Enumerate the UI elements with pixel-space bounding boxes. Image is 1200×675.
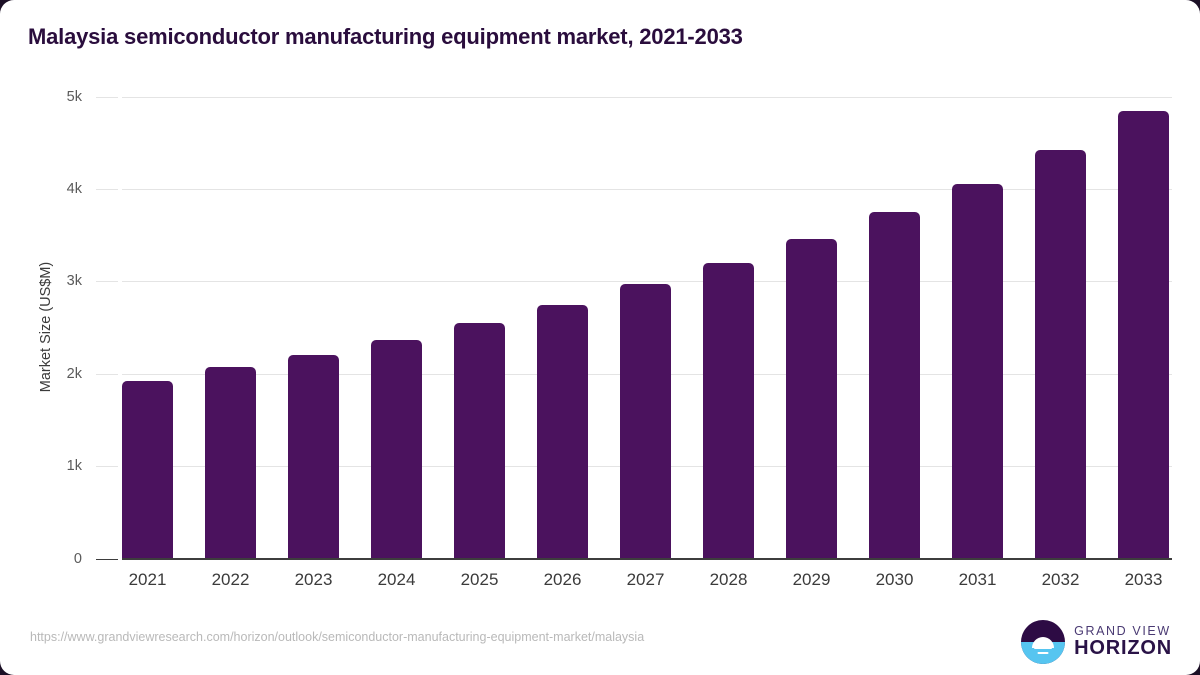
y-axis-tick-label: 0 xyxy=(22,551,82,567)
bar[interactable] xyxy=(205,367,256,558)
x-axis-tick-label: 2022 xyxy=(186,570,276,590)
bar[interactable] xyxy=(1118,111,1169,558)
x-axis-tick-label: 2028 xyxy=(684,570,774,590)
x-axis-tick-label: 2032 xyxy=(1016,570,1106,590)
bar[interactable] xyxy=(371,340,422,558)
y-axis-tick-label: 2k xyxy=(22,366,82,382)
x-axis-line xyxy=(122,558,1172,560)
chart-card: Malaysia semiconductor manufacturing equ… xyxy=(0,0,1200,675)
bar[interactable] xyxy=(786,239,837,558)
page-title: Malaysia semiconductor manufacturing equ… xyxy=(28,24,743,50)
bar[interactable] xyxy=(1035,150,1086,558)
bar[interactable] xyxy=(952,184,1003,559)
x-axis-tick-label: 2021 xyxy=(103,570,193,590)
y-axis-tick-label: 1k xyxy=(22,458,82,474)
y-axis-title: Market Size (US$M) xyxy=(46,96,66,558)
grand-view-horizon-logo[interactable]: GRAND VIEW HORIZON xyxy=(1021,620,1172,664)
y-axis-tick-mark xyxy=(96,189,118,190)
x-axis-tick-label: 2024 xyxy=(352,570,442,590)
logo-text: GRAND VIEW HORIZON xyxy=(1074,625,1172,659)
gridline xyxy=(122,97,1172,98)
bar[interactable] xyxy=(288,355,339,558)
bar[interactable] xyxy=(454,323,505,559)
y-axis-tick-label: 3k xyxy=(22,273,82,289)
y-axis-tick-mark xyxy=(96,559,118,560)
x-axis-tick-label: 2023 xyxy=(269,570,359,590)
gridline xyxy=(122,189,1172,190)
bar[interactable] xyxy=(620,284,671,558)
bar[interactable] xyxy=(703,263,754,559)
source-url[interactable]: https://www.grandviewresearch.com/horizo… xyxy=(30,630,644,644)
x-axis-tick-label: 2030 xyxy=(850,570,940,590)
y-axis-tick-label: 4k xyxy=(22,181,82,197)
y-axis-tick-mark xyxy=(96,97,118,98)
plot-area: 01k2k3k4k5k xyxy=(122,97,1172,559)
x-axis-tick-label: 2025 xyxy=(435,570,525,590)
bar[interactable] xyxy=(122,381,173,558)
y-axis-tick-label: 5k xyxy=(22,89,82,105)
gridline xyxy=(122,281,1172,282)
y-axis-tick-mark xyxy=(96,374,118,375)
x-axis-tick-label: 2026 xyxy=(518,570,608,590)
logo-ray-upper-shape xyxy=(1034,647,1052,650)
bar[interactable] xyxy=(537,305,588,558)
x-axis-tick-label: 2031 xyxy=(933,570,1023,590)
horizon-sun-circle-icon xyxy=(1021,620,1065,664)
x-axis-tick-label: 2027 xyxy=(601,570,691,590)
x-axis-tick-label: 2033 xyxy=(1099,570,1189,590)
x-axis-tick-label: 2029 xyxy=(767,570,857,590)
y-axis-tick-mark xyxy=(96,281,118,282)
logo-ray-lower-shape xyxy=(1038,652,1049,655)
y-axis-tick-mark xyxy=(96,466,118,467)
bar[interactable] xyxy=(869,212,920,559)
logo-brand-line2: HORIZON xyxy=(1074,638,1172,659)
